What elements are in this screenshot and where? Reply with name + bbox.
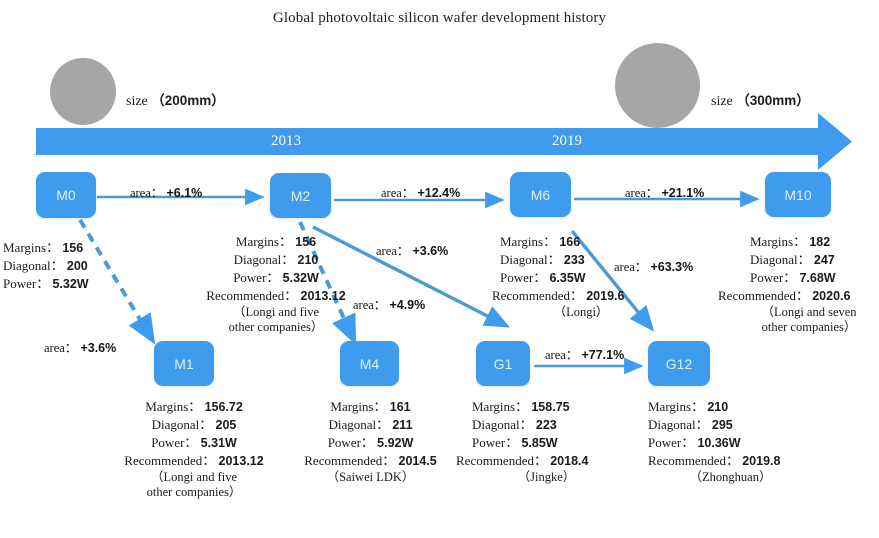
spec-label-power: Power： <box>233 270 279 285</box>
edge-m0-m1-line <box>80 220 150 336</box>
node-g12-label: G12 <box>666 356 692 372</box>
spec-label-power: Power： <box>328 435 374 450</box>
spec-m10-recommended: Recommended： 2020.6 <box>718 287 878 305</box>
node-m4-label: M4 <box>360 356 379 372</box>
spec-label-recommended: Recommended： <box>648 453 739 468</box>
timeline-year-2019: 2019 <box>552 133 582 150</box>
spec-m2-diagonal: Diagonal： 210 <box>186 251 366 269</box>
spec-g1-recommended-value: 2018.4 <box>550 454 588 468</box>
spec-g12-power-value: 10.36W <box>697 436 740 450</box>
node-m6[interactable]: M6 <box>510 172 571 217</box>
spec-label-power: Power： <box>648 435 694 450</box>
spec-m10-company: （Longi and seven <box>718 305 878 320</box>
edge-label-g1-g12: area： +77.1% <box>545 344 624 363</box>
spec-m1-company: （Longi and five <box>104 470 284 485</box>
spec-m2-company2: other companies） <box>186 320 366 335</box>
spec-m10-margins-value: 182 <box>809 235 830 249</box>
spec-label-margins: Margins： <box>500 234 556 249</box>
edge-label-m6-m10-prefix: area： <box>625 186 658 200</box>
spec-label-diagonal: Diagonal： <box>234 252 295 267</box>
spec-m0-power: Power： 5.32W <box>3 275 89 293</box>
spec-m6-recommended: Recommended： 2019.6 <box>492 287 662 305</box>
edge-label-m0-m2: area： +6.1% <box>130 182 202 201</box>
spec-m2-margins-value: 156 <box>295 235 316 249</box>
spec-block-m2: Margins： 156 Diagonal： 210 Power： 5.32W … <box>186 233 366 335</box>
spec-g1-power: Power： 5.85W <box>456 434 631 452</box>
spec-label-recommended: Recommended： <box>124 453 215 468</box>
wafer-label-300mm-prefix: size <box>711 94 733 109</box>
spec-g12-margins-value: 210 <box>707 400 728 414</box>
spec-m6-company: （Longi） <box>492 305 662 320</box>
spec-m10-company2: other companies） <box>718 320 878 335</box>
spec-label-margins: Margins： <box>145 399 201 414</box>
spec-label-diagonal: Diagonal： <box>500 252 561 267</box>
spec-label-margins: Margins： <box>750 234 806 249</box>
spec-m1-company2: other companies） <box>104 485 284 500</box>
timeline-arrow <box>36 113 852 170</box>
spec-m4-power: Power： 5.92W <box>288 434 453 452</box>
spec-g12-company: （Zhonghuan） <box>638 470 813 485</box>
spec-label-recommended: Recommended： <box>206 288 297 303</box>
spec-m0-margins-value: 156 <box>62 241 83 255</box>
spec-label-recommended: Recommended： <box>456 453 547 468</box>
spec-block-m6: Margins： 166 Diagonal： 233 Power： 6.35W … <box>492 233 662 320</box>
spec-m0-power-value: 5.32W <box>52 277 88 291</box>
spec-m2-power: Power： 5.32W <box>186 269 366 287</box>
spec-m6-recommended-value: 2019.6 <box>586 289 624 303</box>
node-m2[interactable]: M2 <box>270 173 331 218</box>
spec-label-power: Power： <box>500 270 546 285</box>
node-m0-label: M0 <box>56 187 75 203</box>
spec-m4-diagonal-value: 211 <box>392 418 412 432</box>
spec-g1-margins: Margins： 158.75 <box>456 398 631 416</box>
spec-m4-margins-value: 161 <box>390 400 411 414</box>
wafer-circle-200mm <box>50 58 116 125</box>
wafer-circle-300mm <box>615 43 700 128</box>
edge-label-m2-g1: area： +3.6% <box>376 240 448 259</box>
edge-label-m0-m1: area： +3.6% <box>44 337 116 356</box>
edge-label-m2-g1-value: +3.6% <box>412 244 448 258</box>
spec-m4-company: （Saiwei LDK） <box>288 470 453 485</box>
spec-label-diagonal: Diagonal： <box>328 417 389 432</box>
spec-m4-recommended: Recommended： 2014.5 <box>288 452 453 470</box>
spec-block-m10: Margins： 182 Diagonal： 247 Power： 7.68W … <box>718 233 878 335</box>
spec-m1-diagonal-value: 205 <box>216 418 237 432</box>
spec-m1-power: Power： 5.31W <box>104 434 284 452</box>
spec-m2-recommended-value: 2013.12 <box>301 289 346 303</box>
spec-m1-diagonal: Diagonal： 205 <box>104 416 284 434</box>
edge-label-m6-m10: area： +21.1% <box>625 182 704 201</box>
spec-m10-recommended-value: 2020.6 <box>812 289 850 303</box>
spec-m1-recommended: Recommended： 2013.12 <box>104 452 284 470</box>
spec-label-diagonal: Diagonal： <box>152 417 213 432</box>
edge-label-m2-m6-prefix: area： <box>381 186 414 200</box>
spec-g12-recommended-value: 2019.8 <box>742 454 780 468</box>
edge-label-m2-m4-value: +4.9% <box>389 298 425 312</box>
spec-m6-margins: Margins： 166 <box>492 233 662 251</box>
spec-m10-power: Power： 7.68W <box>718 269 878 287</box>
node-m1[interactable]: M1 <box>154 341 214 386</box>
spec-m6-margins-value: 166 <box>559 235 580 249</box>
spec-g12-diagonal: Diagonal： 295 <box>638 416 813 434</box>
spec-g1-power-value: 5.85W <box>521 436 557 450</box>
edge-label-m0-m1-value: +3.6% <box>80 341 116 355</box>
wafer-label-200mm-prefix: size <box>126 94 148 109</box>
spec-m2-margins: Margins： 156 <box>186 233 366 251</box>
spec-m6-diagonal-value: 233 <box>564 253 585 267</box>
node-m10[interactable]: M10 <box>765 172 831 217</box>
spec-block-m4: Margins： 161 Diagonal： 211 Power： 5.92W … <box>288 398 453 485</box>
spec-label-margins: Margins： <box>236 234 292 249</box>
diagram-canvas: Global photovoltaic silicon wafer develo… <box>0 0 879 538</box>
spec-block-g1: Margins： 158.75 Diagonal： 223 Power： 5.8… <box>456 398 631 485</box>
spec-g1-recommended: Recommended： 2018.4 <box>456 452 631 470</box>
spec-m4-recommended-value: 2014.5 <box>399 454 437 468</box>
spec-label-diagonal: Diagonal： <box>750 252 811 267</box>
wafer-label-200mm-value: （200mm） <box>151 93 225 108</box>
spec-label-margins: Margins： <box>330 399 386 414</box>
spec-m0-diagonal: Diagonal： 200 <box>3 257 89 275</box>
spec-label-power: Power： <box>472 435 518 450</box>
spec-m4-margins: Margins： 161 <box>288 398 453 416</box>
node-m4[interactable]: M4 <box>340 341 399 386</box>
node-m2-label: M2 <box>291 188 310 204</box>
spec-m1-recommended-value: 2013.12 <box>219 454 264 468</box>
edge-label-m2-m6-value: +12.4% <box>417 186 460 200</box>
spec-m2-company: （Longi and five <box>186 305 366 320</box>
spec-m4-power-value: 5.92W <box>377 436 413 450</box>
timeline-year-2013: 2013 <box>271 133 301 150</box>
spec-g12-power: Power： 10.36W <box>638 434 813 452</box>
spec-label-margins: Margins： <box>3 240 59 255</box>
spec-g1-margins-value: 158.75 <box>531 400 569 414</box>
spec-m6-power-value: 6.35W <box>549 271 585 285</box>
spec-m6-power: Power： 6.35W <box>492 269 662 287</box>
spec-label-margins: Margins： <box>472 399 528 414</box>
spec-g12-diagonal-value: 295 <box>712 418 733 432</box>
spec-m2-diagonal-value: 210 <box>298 253 319 267</box>
spec-g12-margins: Margins： 210 <box>638 398 813 416</box>
spec-label-diagonal: Diagonal： <box>3 258 64 273</box>
spec-g1-company: （Jingke） <box>456 470 631 485</box>
spec-m0-margins: Margins： 156 <box>3 239 89 257</box>
spec-label-diagonal: Diagonal： <box>648 417 709 432</box>
spec-g12-recommended: Recommended： 2019.8 <box>638 452 813 470</box>
wafer-label-200mm: size （200mm） <box>126 89 225 110</box>
spec-label-power: Power： <box>3 276 49 291</box>
spec-m10-diagonal-value: 247 <box>814 253 835 267</box>
spec-label-diagonal: Diagonal： <box>472 417 533 432</box>
edge-label-g1-g12-value: +77.1% <box>581 348 624 362</box>
edge-label-g1-g12-prefix: area： <box>545 348 578 362</box>
edge-label-m0-m2-prefix: area： <box>130 186 163 200</box>
spec-g1-diagonal: Diagonal： 223 <box>456 416 631 434</box>
spec-label-recommended: Recommended： <box>718 288 809 303</box>
edge-label-m0-m1-prefix: area： <box>44 341 77 355</box>
spec-m10-margins: Margins： 182 <box>718 233 878 251</box>
spec-label-recommended: Recommended： <box>304 453 395 468</box>
spec-g1-diagonal-value: 223 <box>536 418 557 432</box>
node-m10-label: M10 <box>784 187 811 203</box>
wafer-label-300mm: size （300mm） <box>711 89 810 110</box>
spec-m4-diagonal: Diagonal： 211 <box>288 416 453 434</box>
spec-m2-power-value: 5.32W <box>283 271 319 285</box>
spec-m1-margins: Margins： 156.72 <box>104 398 284 416</box>
node-m1-label: M1 <box>174 356 193 372</box>
spec-label-power: Power： <box>151 435 197 450</box>
spec-m10-diagonal: Diagonal： 247 <box>718 251 878 269</box>
node-g1[interactable]: G1 <box>476 341 530 386</box>
edge-label-m2-m6: area： +12.4% <box>381 182 460 201</box>
edge-label-m6-m10-value: +21.1% <box>661 186 704 200</box>
spec-block-m0: Margins： 156 Diagonal： 200 Power： 5.32W <box>3 239 89 293</box>
spec-m1-power-value: 5.31W <box>201 436 237 450</box>
spec-label-power: Power： <box>750 270 796 285</box>
edge-label-m0-m2-value: +6.1% <box>166 186 202 200</box>
page-title: Global photovoltaic silicon wafer develo… <box>0 10 879 27</box>
spec-m10-power-value: 7.68W <box>799 271 835 285</box>
node-m0[interactable]: M0 <box>36 172 96 218</box>
spec-m6-diagonal: Diagonal： 233 <box>492 251 662 269</box>
node-g1-label: G1 <box>494 356 513 372</box>
spec-label-margins: Margins： <box>648 399 704 414</box>
edge-label-m2-g1-prefix: area： <box>376 244 409 258</box>
spec-block-g12: Margins： 210 Diagonal： 295 Power： 10.36W… <box>638 398 813 485</box>
spec-m0-diagonal-value: 200 <box>67 259 88 273</box>
spec-m1-margins-value: 156.72 <box>205 400 243 414</box>
spec-m2-recommended: Recommended： 2013.12 <box>186 287 366 305</box>
wafer-label-300mm-value: （300mm） <box>736 93 810 108</box>
spec-label-recommended: Recommended： <box>492 288 583 303</box>
node-m6-label: M6 <box>531 187 550 203</box>
spec-block-m1: Margins： 156.72 Diagonal： 205 Power： 5.3… <box>104 398 284 500</box>
node-g12[interactable]: G12 <box>648 341 710 386</box>
